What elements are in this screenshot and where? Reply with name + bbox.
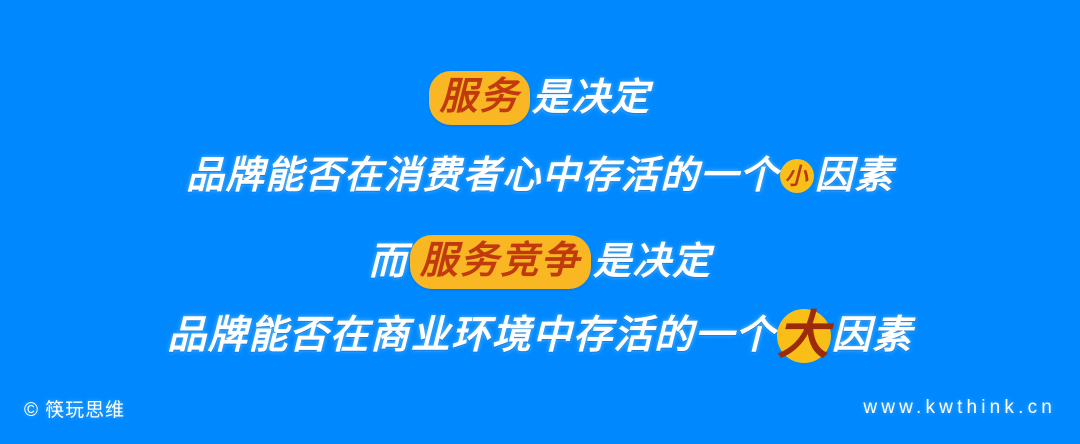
quote-line-2-after: 因素	[815, 152, 894, 200]
quote-line-3-lead: 而	[368, 238, 408, 286]
highlight-pill-service-competition: 服务竞争	[410, 235, 591, 289]
footer: © 筷玩思维 www.kwthink.cn	[0, 380, 1080, 444]
quote-line-4: 品牌能否在商业环境中存活的一个 大 因素	[167, 310, 913, 362]
quote-line-1: 服务 是决定	[429, 72, 650, 124]
quote-line-3-rest: 是决定	[593, 238, 712, 286]
quote-line-2-before: 品牌能否在消费者心中存活的一个	[186, 152, 779, 200]
quote-line-4-after: 因素	[832, 312, 913, 360]
slide-canvas: 服务 是决定 品牌能否在消费者心中存活的一个 小 因素 而 服务竞争 是决定 品…	[0, 0, 1080, 444]
copyright-credit: © 筷玩思维	[24, 395, 125, 422]
quote-line-4-before: 品牌能否在商业环境中存活的一个	[167, 312, 775, 360]
emphasis-circle-large: 大	[777, 309, 831, 363]
quote-line-1-rest: 是决定	[532, 74, 651, 122]
emphasis-circle-large-glyph: 大	[777, 310, 831, 362]
quote-line-3: 而 服务竞争 是决定	[368, 236, 711, 288]
emphasis-circle-small: 小	[780, 159, 814, 193]
website-url: www.kwthink.cn	[863, 397, 1056, 419]
quote-line-2: 品牌能否在消费者心中存活的一个 小 因素	[186, 150, 894, 202]
highlight-pill-service: 服务	[429, 71, 530, 125]
quote-block: 服务 是决定 品牌能否在消费者心中存活的一个 小 因素 而 服务竞争 是决定 品…	[0, 0, 1080, 380]
